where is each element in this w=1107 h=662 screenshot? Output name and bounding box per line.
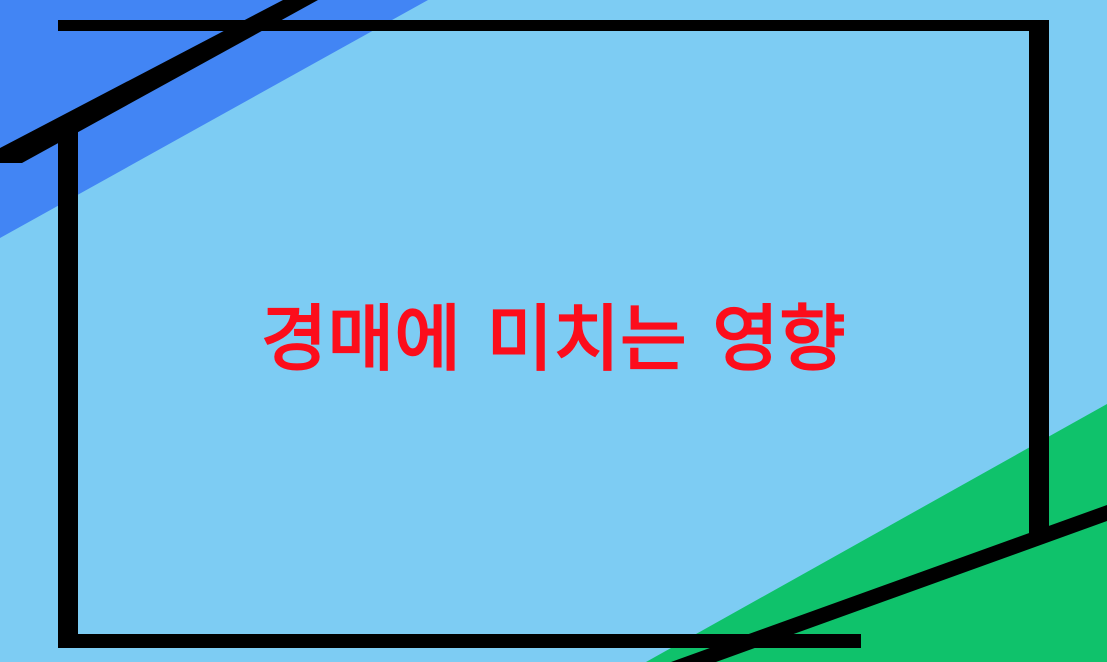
frame-top-bar: [58, 20, 1049, 31]
slide-decoration-canvas: [0, 0, 1107, 662]
frame-right-bar: [1029, 20, 1049, 538]
presentation-slide: 경매에 미치는 영향: [0, 0, 1107, 662]
frame-left-bar: [58, 125, 78, 648]
